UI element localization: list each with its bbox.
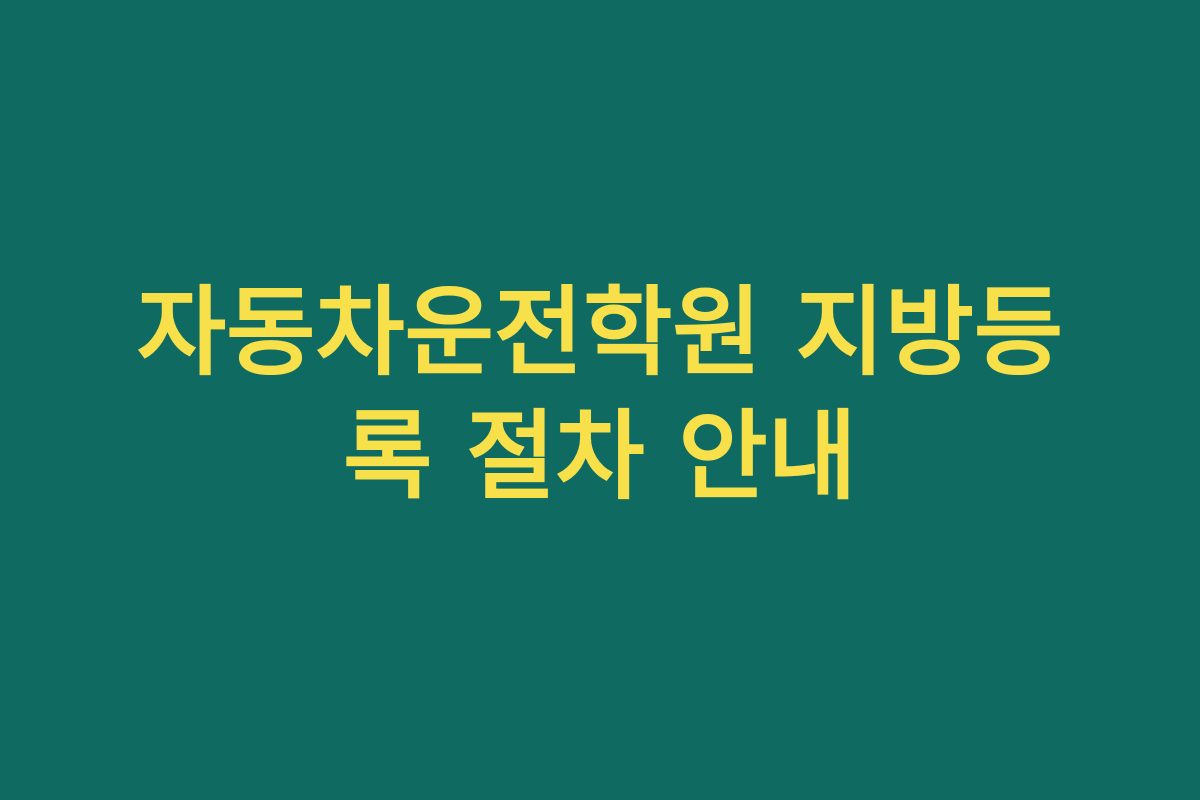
banner-title-line-1: 자동차운전학원 지방등: [95, 271, 1105, 395]
banner-title-line-2: 록 절차 안내: [95, 395, 1105, 519]
banner-background: 자동차운전학원 지방등 록 절차 안내: [0, 0, 1200, 800]
banner-title-block: 자동차운전학원 지방등 록 절차 안내: [95, 271, 1105, 519]
